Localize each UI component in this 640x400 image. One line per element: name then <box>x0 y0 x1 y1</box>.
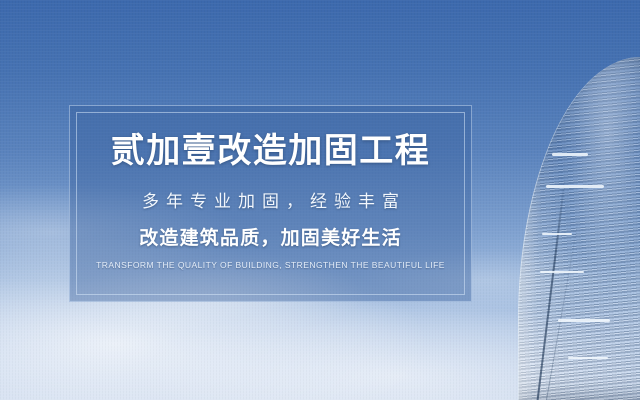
tower-highlight-streak <box>568 357 608 359</box>
tower-body <box>518 57 640 400</box>
slogan-text: 改造建筑品质，加固美好生活 <box>139 223 402 250</box>
tower-highlight-streak <box>552 153 588 156</box>
tower-highlight-streak <box>558 319 610 322</box>
tower-highlight-streak <box>542 233 572 235</box>
hero-banner: 贰加壹改造加固工程 多年专业加固，经验丰富 改造建筑品质，加固美好生活 TRAN… <box>0 0 640 400</box>
panel-content: 贰加壹改造加固工程 多年专业加固，经验丰富 改造建筑品质，加固美好生活 TRAN… <box>70 106 471 301</box>
tower-highlight-streak <box>546 185 604 188</box>
tower-highlight-streak <box>540 271 584 273</box>
headline-title: 贰加壹改造加固工程 <box>111 132 431 170</box>
skyscraper-image <box>490 0 640 400</box>
slogan-english-text: TRANSFORM THE QUALITY OF BUILDING, STREN… <box>96 260 445 270</box>
text-overlay-panel: 贰加壹改造加固工程 多年专业加固，经验丰富 改造建筑品质，加固美好生活 TRAN… <box>69 105 472 302</box>
subheadline-text: 多年专业加固，经验丰富 <box>135 187 406 212</box>
tower-glass-reflection <box>518 57 640 400</box>
